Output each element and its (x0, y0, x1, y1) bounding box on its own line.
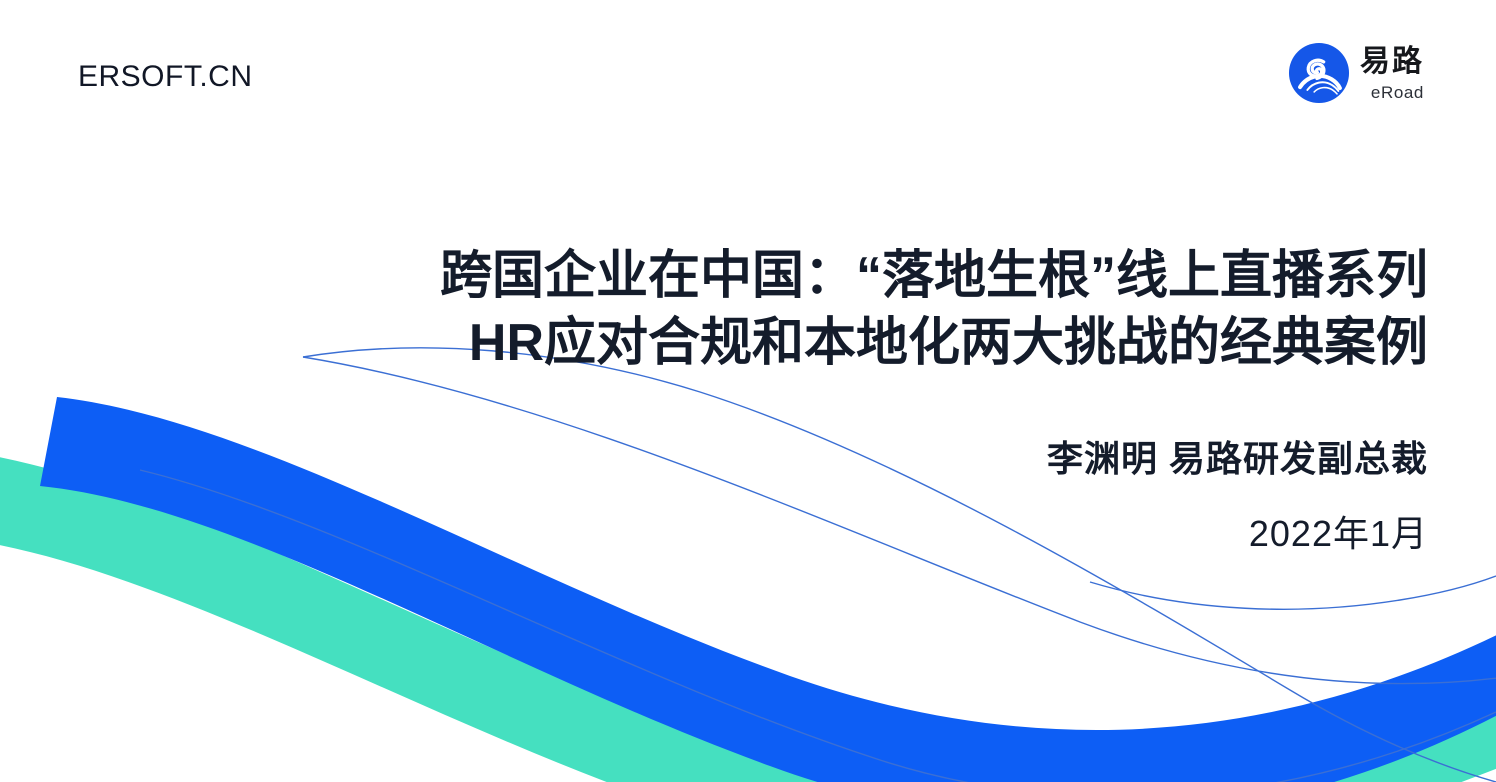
thin-blue-arc-branch (303, 348, 1496, 782)
title-line-2: HR应对合规和本地化两大挑战的经典案例 (248, 310, 1428, 377)
slide-title: 跨国企业在中国：“落地生根”线上直播系列 HR应对合规和本地化两大挑战的经典案例 (248, 243, 1428, 376)
teal-swoosh-band (0, 448, 1496, 782)
eroad-circle-logo-icon (1288, 42, 1350, 104)
presenter-name-and-role: 李渊明 易路研发副总裁 (1047, 430, 1428, 482)
eroad-wordmark: 易路 eRoad (1360, 45, 1424, 101)
thin-blue-arc-right (1090, 576, 1496, 609)
event-date: 2022年1月 (1249, 505, 1428, 557)
logo-name-en: eRoad (1371, 84, 1424, 101)
title-slide: ERSOFT.CN 易路 eRoad 跨国企业在中国：“落地生根”线上直播系列 … (0, 0, 1496, 782)
logo-name-cn: 易路 (1360, 47, 1424, 77)
brand-wordmark-ersoft: ERSOFT.CN (78, 60, 253, 94)
eroad-logo-lockup: 易路 eRoad (1288, 42, 1424, 104)
decorative-background-art (0, 0, 1496, 782)
title-line-1: 跨国企业在中国：“落地生根”线上直播系列 (248, 243, 1428, 310)
